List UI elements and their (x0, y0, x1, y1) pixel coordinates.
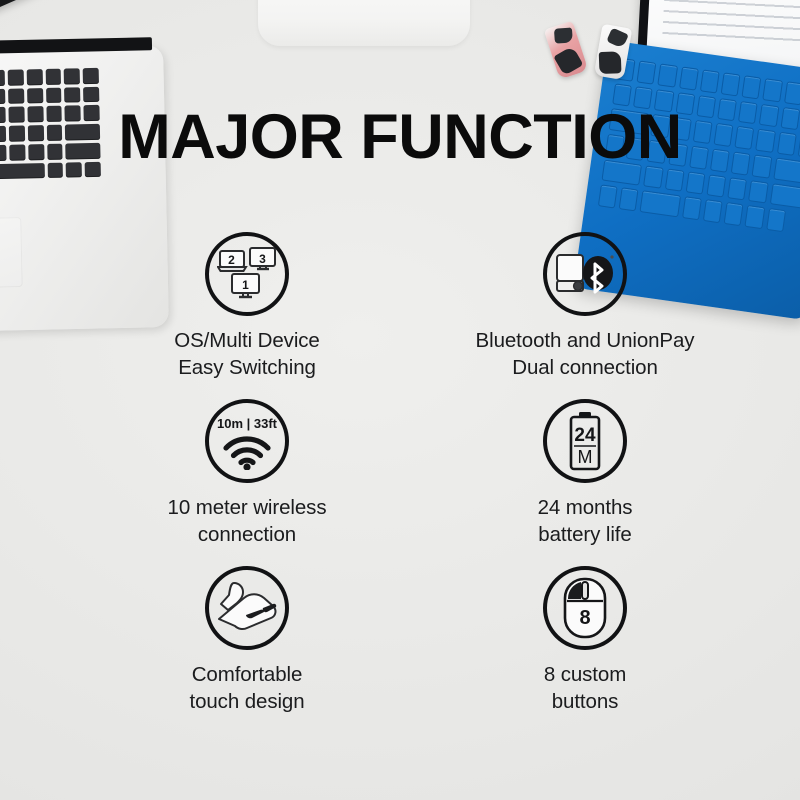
caption-line-1: Bluetooth and UnionPay (476, 327, 695, 354)
caption-line-1: Comfortable (189, 661, 304, 688)
clip-pink (544, 21, 589, 80)
feature-caption: 8 custom buttons (544, 661, 626, 715)
feature-caption: OS/Multi Device Easy Switching (174, 327, 319, 381)
bluetooth-dongle-icon (543, 232, 627, 316)
feature-caption: Bluetooth and UnionPay Dual connection (476, 327, 695, 381)
device-plate (258, 0, 470, 46)
battery-value: 24 (574, 425, 596, 446)
feature-battery: 24 M 24 months battery life (434, 399, 736, 548)
caption-line-2: Easy Switching (174, 354, 319, 381)
feature-custom-buttons: 8 8 custom buttons (434, 566, 736, 715)
laptop-trackpad (0, 217, 23, 289)
battery-unit: M (578, 447, 593, 467)
caption-line-2: Dual connection (476, 354, 695, 381)
caption-line-1: OS/Multi Device (174, 327, 319, 354)
caption-line-2: connection (168, 521, 327, 548)
feature-caption: 10 meter wireless connection (168, 494, 327, 548)
caption-line-1: 8 custom (544, 661, 626, 688)
button-count: 8 (579, 607, 590, 629)
mouse-buttons-icon: 8 (543, 566, 627, 650)
touch-design-icon (205, 566, 289, 650)
page-title: MAJOR FUNCTION (0, 106, 800, 169)
device-label-3: 3 (259, 252, 266, 266)
device-label-2: 2 (228, 253, 235, 267)
feature-caption: Comfortable touch design (189, 661, 304, 715)
feature-wireless-range: 10m | 33ft 10 meter wireless connection (96, 399, 398, 548)
feature-multi-device: 2 3 1 OS/Multi Device Easy Switching (96, 232, 398, 381)
caption-line-2: buttons (544, 688, 626, 715)
multi-device-icon: 2 3 1 (205, 232, 289, 316)
caption-line-2: battery life (538, 521, 633, 548)
device-label-1: 1 (242, 278, 249, 292)
caption-line-2: touch design (189, 688, 304, 715)
range-label: 10m | 33ft (217, 416, 278, 431)
feature-caption: 24 months battery life (538, 494, 633, 548)
wireless-range-icon: 10m | 33ft (205, 399, 289, 483)
battery-life-icon: 24 M (543, 399, 627, 483)
infographic-banner: MAJOR FUNCTION 2 3 (0, 0, 800, 800)
caption-line-1: 10 meter wireless (168, 494, 327, 521)
feature-touch-design: Comfortable touch design (96, 566, 398, 715)
caption-line-1: 24 months (538, 494, 633, 521)
feature-grid: 2 3 1 OS/Multi Device Easy Switching (96, 232, 736, 715)
feature-bluetooth: Bluetooth and UnionPay Dual connection (434, 232, 736, 381)
